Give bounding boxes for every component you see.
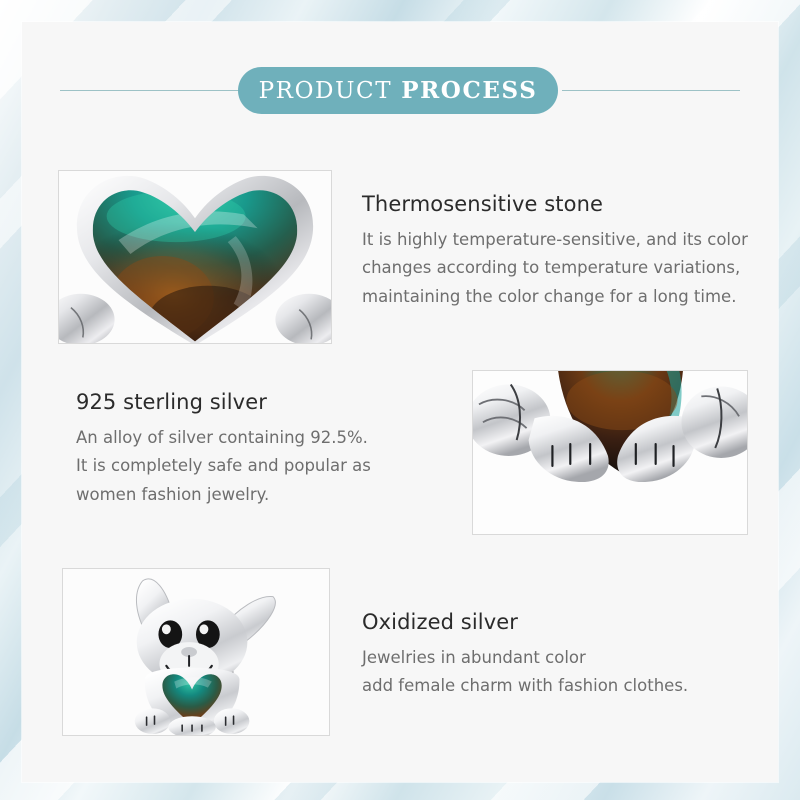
page-title-word-process: PROCESS <box>401 77 537 104</box>
dog-charm-illustration <box>63 569 329 735</box>
section-text-oxidized-silver: Oxidized silver Jewelries in abundant co… <box>362 610 760 701</box>
page-title-banner: PRODUCT PROCESS <box>22 67 778 115</box>
section-title: 925 sterling silver <box>76 390 426 414</box>
heart-stone-illustration <box>59 171 331 343</box>
section-body: An alloy of silver containing 92.5%. It … <box>76 424 426 509</box>
page-title-pill: PRODUCT PROCESS <box>238 67 558 114</box>
section-body: Jewelries in abundant color add female c… <box>362 644 760 701</box>
product-photo-sterling-silver <box>472 370 748 535</box>
silver-paws-illustration <box>473 371 747 534</box>
section-title: Oxidized silver <box>362 610 760 634</box>
product-photo-dog-charm <box>62 568 330 736</box>
product-photo-thermosensitive-stone <box>58 170 332 344</box>
page-title-word-product: PRODUCT <box>259 78 393 104</box>
title-rule-left <box>60 90 260 91</box>
page-frame: PRODUCT PROCESS <box>0 0 800 800</box>
section-body: It is highly temperature-sensitive, and … <box>362 226 760 311</box>
section-title: Thermosensitive stone <box>362 192 760 216</box>
section-text-sterling-silver: 925 sterling silver An alloy of silver c… <box>76 390 426 509</box>
title-rule-right <box>562 90 740 91</box>
section-text-thermosensitive-stone: Thermosensitive stone It is highly tempe… <box>362 192 760 311</box>
content-canvas: PRODUCT PROCESS <box>22 22 778 782</box>
